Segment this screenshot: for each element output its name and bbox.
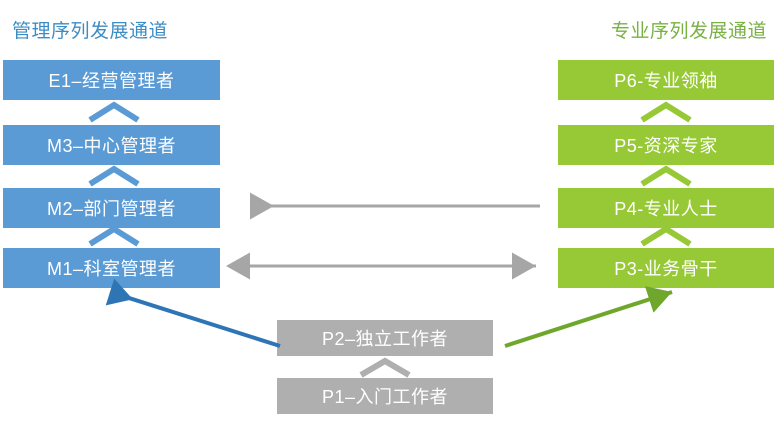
- diagram-canvas: 管理序列发展通道 专业序列发展通道 E1–经营管理者 M3–中心管理者 M2–部…: [0, 0, 777, 438]
- node-p2[interactable]: P2–独立工作者: [277, 320, 493, 356]
- node-m1[interactable]: M1–科室管理者: [3, 248, 220, 288]
- node-p1[interactable]: P1–入门工作者: [277, 378, 493, 414]
- arrow-p4-to-m2: [238, 196, 548, 216]
- node-e1[interactable]: E1–经营管理者: [3, 60, 220, 100]
- chevron-up-icon-e1-m3: [86, 100, 142, 125]
- arrow-p2-to-p3-diagonal: [500, 280, 690, 360]
- node-p3[interactable]: P3-业务骨干: [558, 248, 774, 288]
- node-m3[interactable]: M3–中心管理者: [3, 125, 220, 165]
- chevron-up-icon-m3-m2: [86, 164, 142, 189]
- node-p4[interactable]: P4-专业人士: [558, 188, 774, 228]
- management-track-title: 管理序列发展通道: [12, 19, 168, 45]
- chevron-up-icon-p6-p5: [638, 100, 694, 125]
- arrow-p2-to-m1-diagonal: [100, 280, 300, 360]
- professional-track-title: 专业序列发展通道: [611, 19, 767, 45]
- arrow-m1-p3-bidirectional: [238, 256, 548, 276]
- chevron-up-icon-p1-p2: [357, 356, 413, 380]
- chevron-up-icon-p5-p4: [638, 164, 694, 189]
- node-p5[interactable]: P5-资深专家: [558, 125, 774, 165]
- node-m2[interactable]: M2–部门管理者: [3, 188, 220, 228]
- node-p6[interactable]: P6-专业领袖: [558, 60, 774, 100]
